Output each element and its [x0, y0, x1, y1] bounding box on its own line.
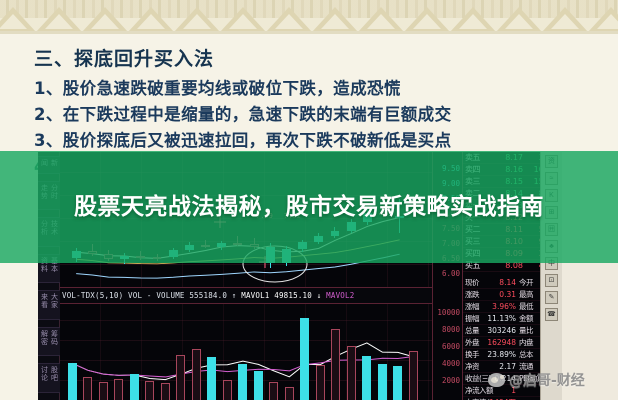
tool-button-8[interactable]: ✎ [545, 291, 558, 304]
border-triangle [174, 7, 220, 32]
volume-bar [223, 380, 232, 400]
volume-bar [409, 351, 418, 400]
mavol2-label: MAVOL2 [326, 291, 354, 300]
volume-arrow-up-icon: ↑ [232, 291, 237, 300]
stat-value-left: 8.14 [487, 277, 519, 288]
border-triangle [128, 7, 174, 32]
note-line-1: 1、股价急速跌破重要均线或破位下跌，造成恐慌 [34, 76, 604, 102]
volume-bar [331, 329, 340, 400]
volume-bar [99, 382, 108, 400]
volume-axis-tick-4: 2000 [442, 376, 460, 385]
border-base-line [0, 31, 618, 34]
stat-key-left: 净资 [463, 361, 487, 372]
weibo-icon [488, 373, 505, 387]
stat-key-left: 涨跌 [463, 289, 487, 300]
tool-button-9[interactable]: ☎ [545, 308, 558, 321]
border-triangle [496, 7, 542, 32]
volume-bar [161, 383, 170, 400]
stat-key-left: 收益(三) [463, 373, 487, 384]
stat-key-left: 振幅 [463, 313, 487, 324]
volume-bar [68, 363, 77, 400]
border-triangle [542, 7, 588, 32]
stat-value-left: 23.89% [487, 349, 519, 360]
volume-bar [114, 379, 123, 400]
mavol1-arrow-down-icon: ↓ [317, 291, 322, 300]
volume-bar [254, 371, 263, 400]
volume-bar [130, 374, 139, 400]
overlay-title: 股票天亮战法揭秘，股市交易新策略实战指南 [0, 151, 618, 263]
border-triangle [588, 7, 618, 32]
price-axis-tick-7: 6.00 [442, 269, 460, 278]
border-triangle [0, 7, 36, 32]
vol-label: VOL - [128, 291, 152, 300]
volume-bar [176, 355, 185, 400]
volume-value: 555184.0 [189, 291, 227, 300]
stat-value-left: 0.31 [487, 289, 519, 300]
stat-value-left: 162948 [487, 337, 519, 348]
volume-bar [378, 364, 387, 400]
volume-axis-tick-1: 8000 [442, 325, 460, 334]
volume-bar [300, 318, 309, 400]
border-triangle [220, 7, 266, 32]
volume-axis-tick-3: 4000 [442, 359, 460, 368]
border-triangle [312, 7, 358, 32]
mavol1-label: MAVOL1 [241, 291, 269, 300]
border-triangle [404, 7, 450, 32]
volume-indicator-header: VOL-TDX(5,10) VOL - VOLUME 555184.0 ↑ MA… [60, 288, 432, 304]
stat-key-left: 总量 [463, 325, 487, 336]
note-line-2: 2、在下跌过程中是缩量的，急速下跌的末端有巨额成交 [34, 102, 604, 128]
border-triangle-row [0, 7, 618, 34]
volume-bar [192, 349, 201, 400]
volume-bar [285, 387, 294, 400]
volume-bar [145, 381, 154, 400]
volume-bar [316, 365, 325, 400]
border-triangle [36, 7, 82, 32]
stat-key-left: 净流入额 [463, 385, 487, 396]
stat-value-left: 303246 [487, 325, 519, 336]
stat-key-left: 涨幅 [463, 301, 487, 312]
note-heading: 三、探底回升买入法 [34, 44, 604, 71]
volume-bar [362, 356, 371, 400]
border-triangle [358, 7, 404, 32]
volume-axis-tick-2: 6000 [442, 342, 460, 351]
watermark-handle: @启哥-财经 [509, 370, 585, 390]
sidebar-item-4[interactable]: 大家来看 [38, 290, 61, 320]
stat-key-left: 换手 [463, 349, 487, 360]
tool-button-7[interactable]: ⊡ [545, 274, 558, 287]
mavol1-value: 49815.10 [274, 291, 312, 300]
stat-key-left: 外盘 [463, 337, 487, 348]
sidebar-item-6[interactable]: 股吧讨论 [38, 363, 61, 393]
stat-key-left: 现价 [463, 277, 487, 288]
volume-bar [269, 382, 278, 400]
volume-bar [347, 346, 356, 400]
watermark: @启哥-财经 [488, 368, 585, 392]
stat-value-left: 3.96% [487, 301, 519, 312]
vol-indicator-name: VOL-TDX(5,10) [62, 291, 123, 300]
decorative-top-border [0, 0, 618, 34]
border-triangle [450, 7, 496, 32]
border-triangle [266, 7, 312, 32]
border-triangle [82, 7, 128, 32]
sidebar-item-5[interactable]: 筹码解密 [38, 327, 61, 357]
volume-bar [393, 366, 402, 400]
screenshot-stage: 三、探底回升买入法 1、股价急速跌破重要均线或破位下跌，造成恐慌 2、在下跌过程… [0, 0, 618, 400]
stat-value-left: 11.13% [487, 313, 519, 324]
volume-axis-tick-0: 10000 [437, 308, 460, 317]
volume-bar [83, 377, 92, 400]
volume-bar [207, 357, 216, 400]
volume-label: VOLUME [156, 291, 184, 300]
volume-pane[interactable] [60, 304, 432, 400]
volume-bar [238, 364, 247, 400]
